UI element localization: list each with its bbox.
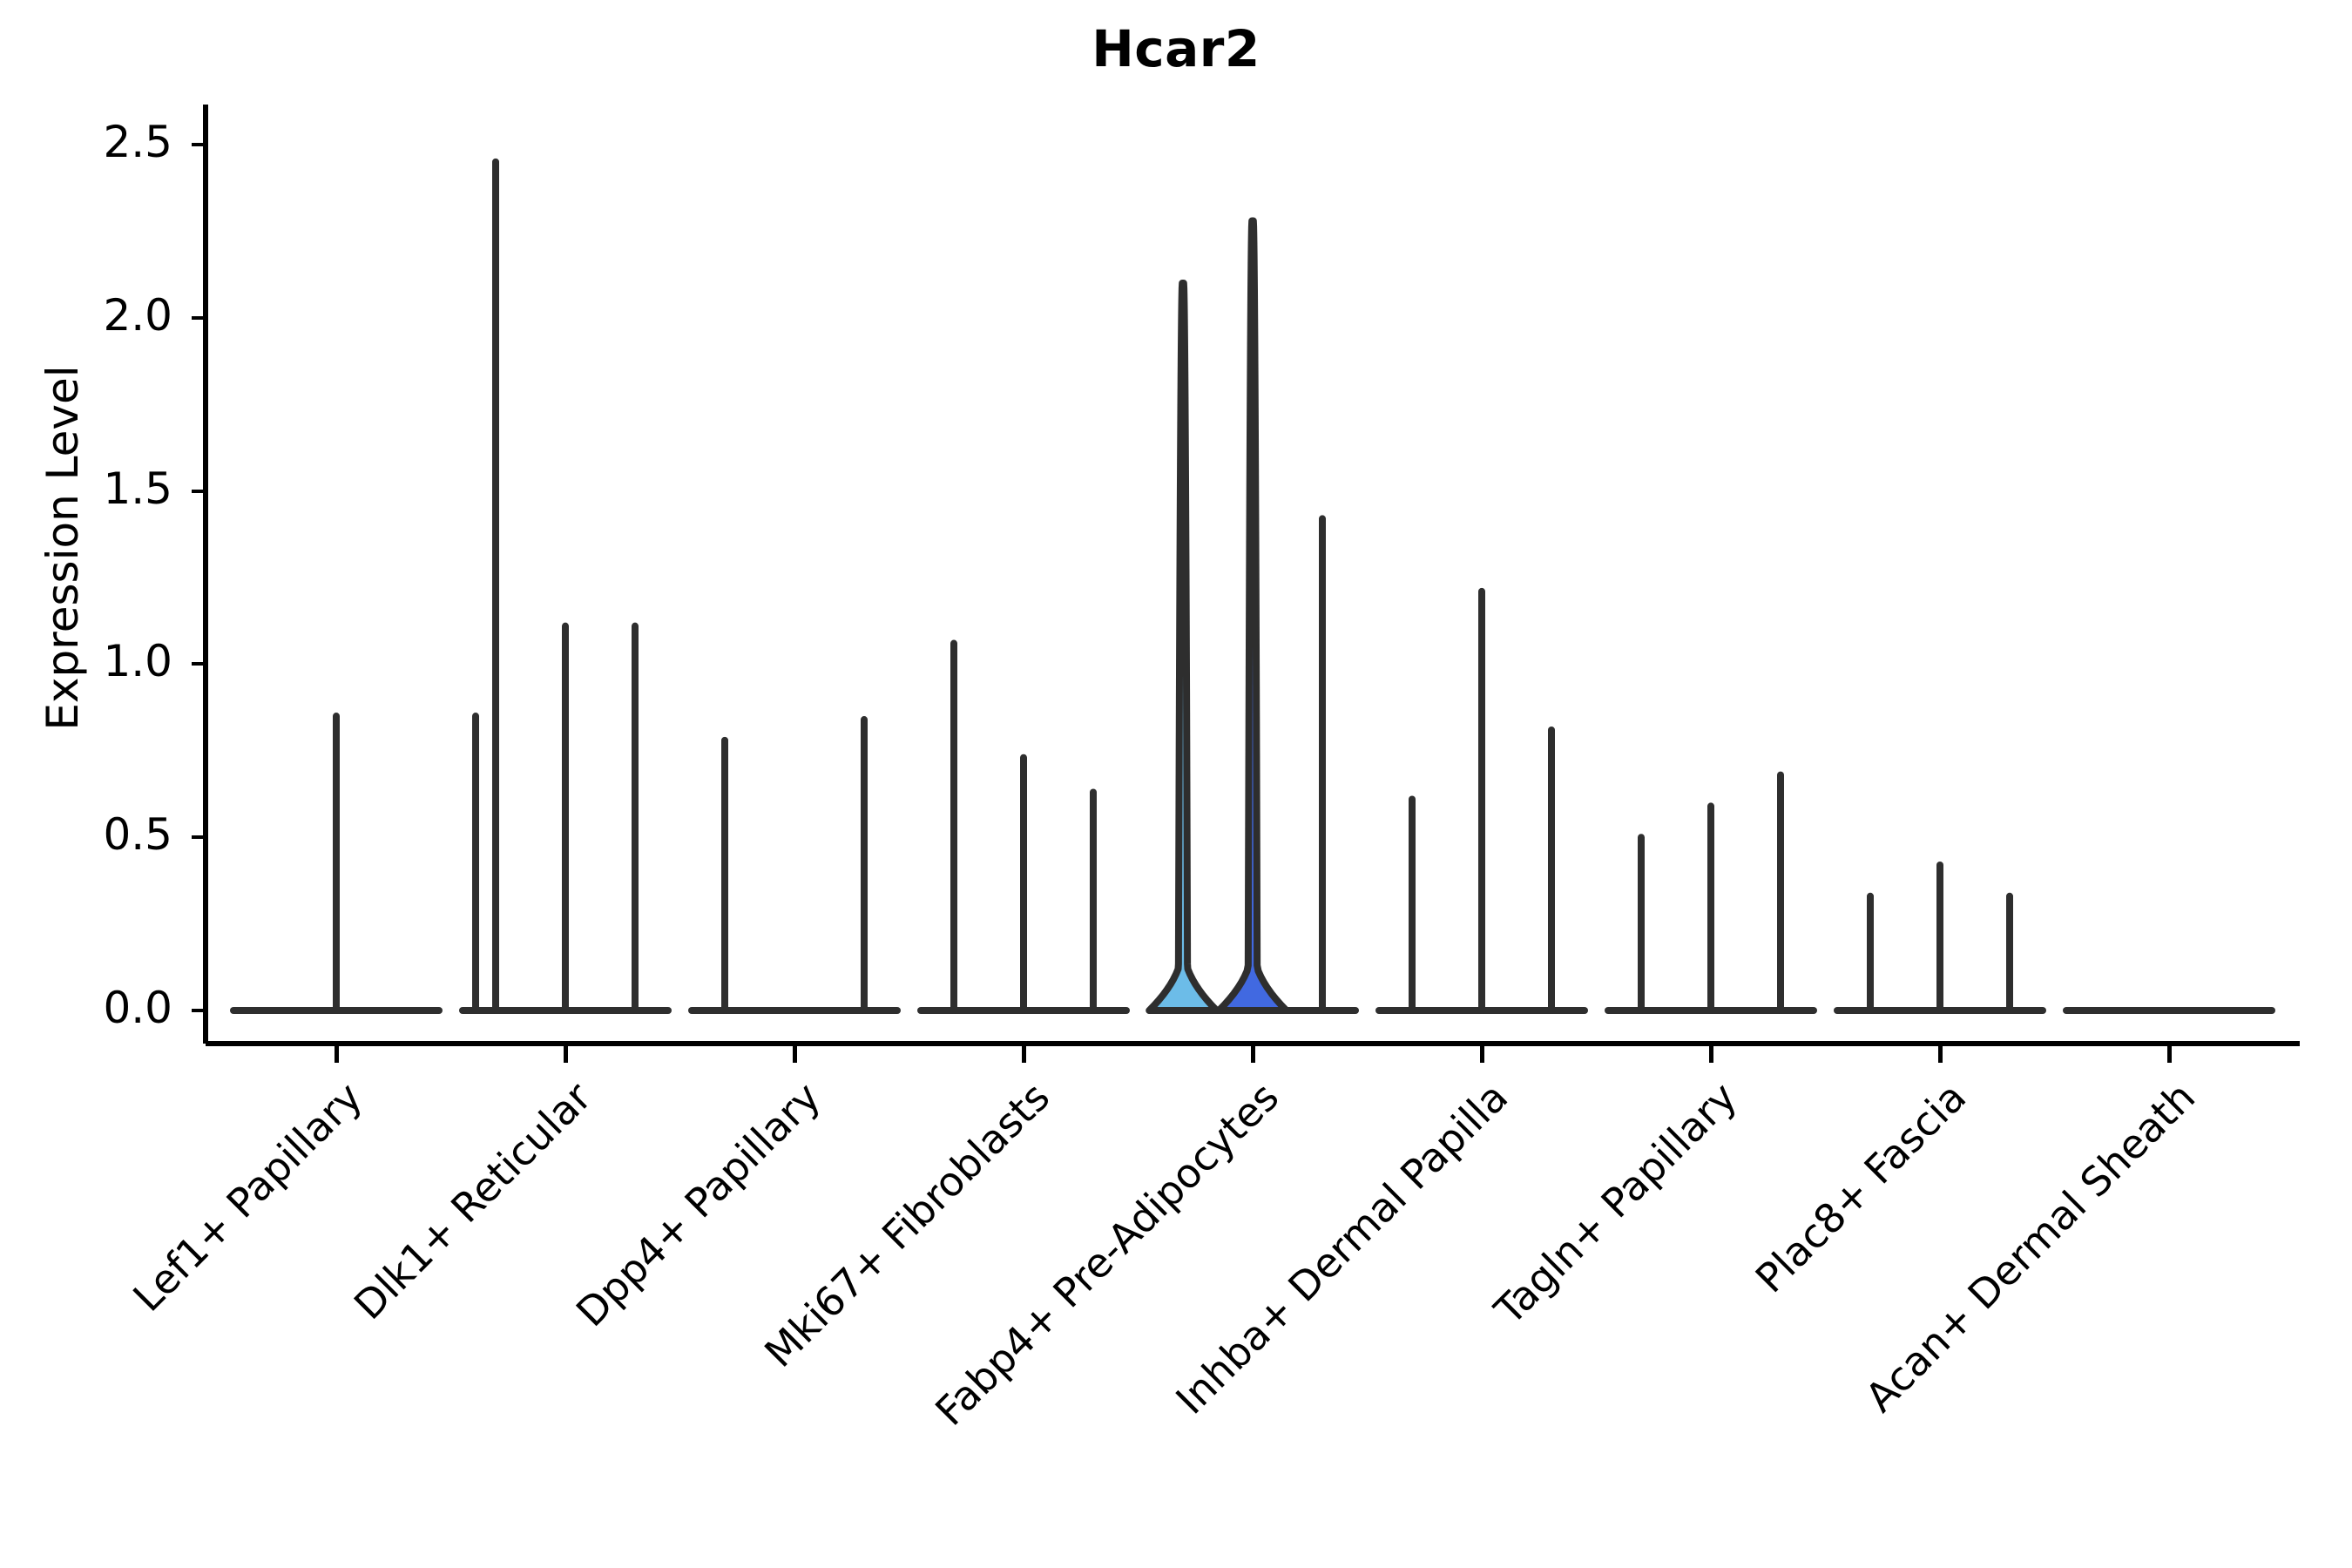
x-axis-tick-mark <box>564 1044 568 1063</box>
y-axis-tick-mark <box>192 835 203 839</box>
y-axis-tick-mark <box>192 662 203 666</box>
x-axis-tick-mark <box>1251 1044 1255 1063</box>
x-axis-tick-mark <box>793 1044 797 1063</box>
y-axis-tick-mark <box>192 1009 203 1012</box>
y-axis-tick-label: 1.5 <box>42 467 172 510</box>
y-axis-tick-label: 0.5 <box>42 813 172 856</box>
y-axis-tick-mark <box>192 316 203 320</box>
violin-plot-figure: Hcar2 Expression Level 0.00.51.01.52.02.… <box>0 0 2352 1568</box>
y-axis-tick-label: 2.0 <box>42 294 172 337</box>
x-axis-tick-mark <box>1480 1044 1484 1063</box>
y-axis-tick-label: 0.0 <box>42 986 172 1030</box>
x-axis-tick-mark <box>1938 1044 1943 1063</box>
x-axis-tick-mark <box>335 1044 339 1063</box>
y-axis-tick-mark <box>192 490 203 493</box>
y-axis-tick-mark <box>192 143 203 146</box>
x-axis-tick-mark <box>1022 1044 1026 1063</box>
y-axis-tick-label: 1.0 <box>42 639 172 683</box>
violin-layer <box>233 162 2272 1010</box>
x-axis-tick-mark <box>2167 1044 2172 1063</box>
y-axis-tick-label: 2.5 <box>42 120 172 164</box>
x-axis-tick-mark <box>1709 1044 1713 1063</box>
